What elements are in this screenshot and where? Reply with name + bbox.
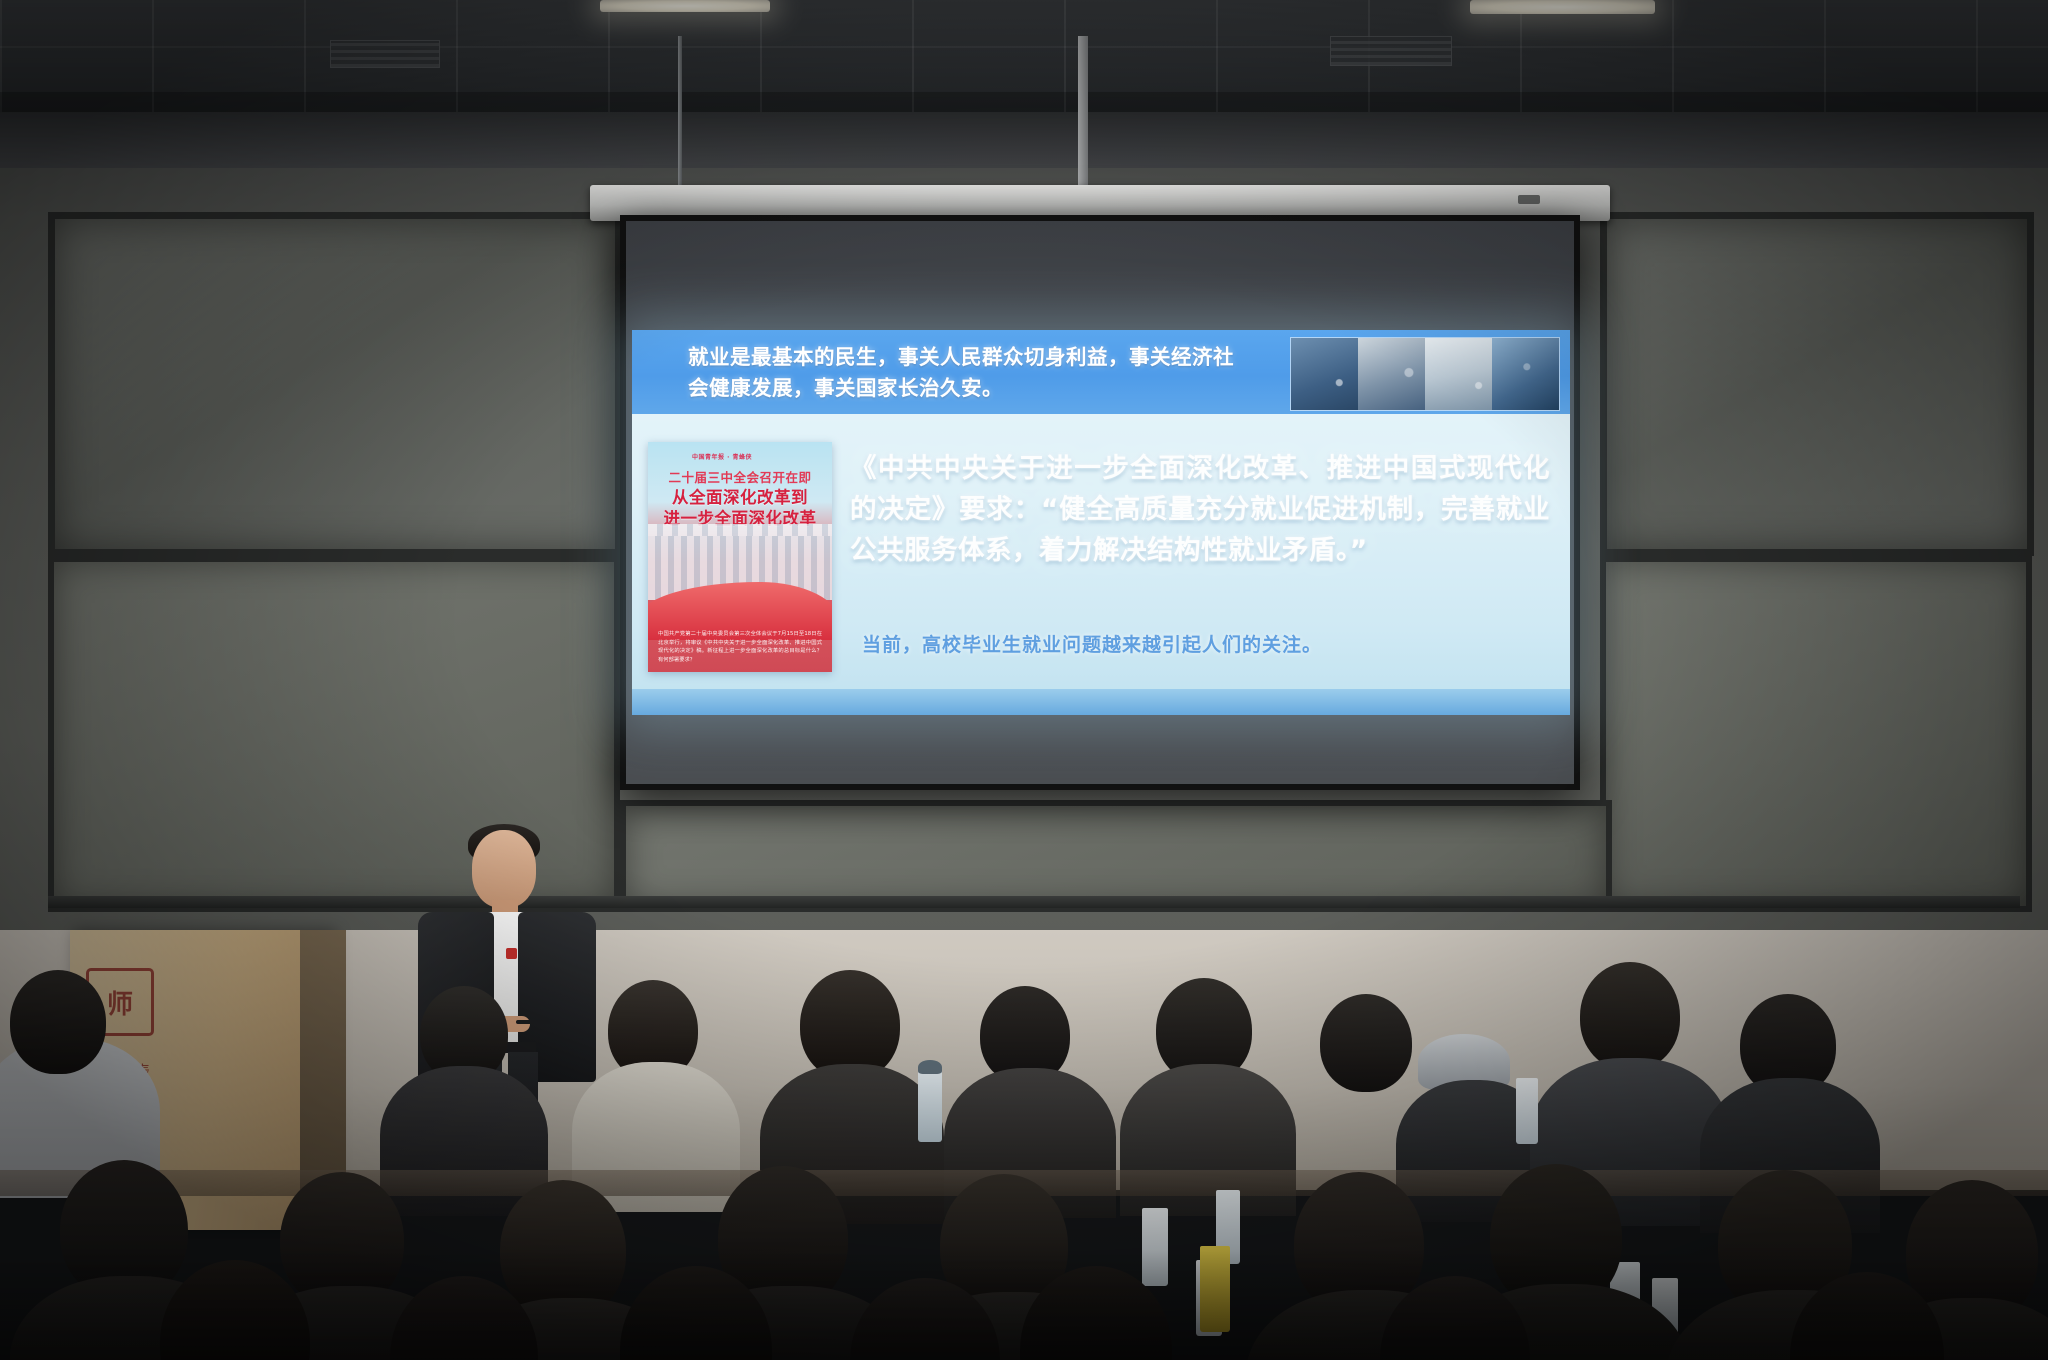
poster-body-text: 中国共产党第二十届中央委员会第三次全体会议于7月15日至18日在北京举行，将审议… — [658, 630, 822, 664]
slide-header-text: 就业是最基本的民生，事关人民群众切身利益，事关经济社会健康发展，事关国家长治久安… — [688, 342, 1248, 404]
ceiling-light — [1470, 0, 1655, 14]
bottle-cap — [918, 1060, 942, 1074]
ceiling-vent — [1330, 36, 1452, 66]
news-poster-image: 中国青年报 · 青蜂侠 二十届三中全会召开在即 从全面深化改革到 进一步全面深化… — [648, 442, 832, 672]
lecture-hall-photo: 就业是最基本的民生，事关人民群众切身利益，事关经济社会健康发展，事关国家长治久安… — [0, 0, 2048, 1360]
presenter-head — [472, 830, 536, 908]
audience-foreground-shadow — [0, 1250, 2048, 1360]
ceiling-vent — [330, 40, 440, 68]
blackboard-left-upper — [48, 212, 622, 556]
water-bottle — [918, 1070, 942, 1142]
audience-member — [10, 970, 106, 1074]
presenter-lapel-pin — [506, 948, 517, 959]
poster-badge: 中国青年报 · 青蜂侠 — [692, 452, 752, 461]
audience — [0, 960, 2048, 1360]
audience-member — [1580, 962, 1680, 1070]
slide-quote-text: 《中共中央关于进一步全面深化改革、推进中国式现代化的决定》要求：“健全高质量充分… — [850, 448, 1550, 571]
blackboard-right-lower — [1600, 556, 2032, 912]
audience-member — [1320, 994, 1412, 1092]
ceiling-light — [600, 0, 770, 12]
slide-footer-band — [632, 689, 1570, 715]
collage-crowd-texture — [1291, 338, 1559, 410]
presentation-slide: 就业是最基本的民生，事关人民群众切身利益，事关经济社会健康发展，事关国家长治久安… — [632, 330, 1570, 715]
blackboard-right-upper — [1600, 212, 2034, 556]
photo-collage — [1290, 337, 1560, 411]
slide-bottom-text: 当前，高校毕业生就业问题越来越引起人们的关注。 — [862, 630, 1522, 657]
water-bottle — [1516, 1078, 1538, 1144]
projector-mount-pole — [1078, 36, 1088, 202]
chalk-tray — [48, 896, 2020, 908]
